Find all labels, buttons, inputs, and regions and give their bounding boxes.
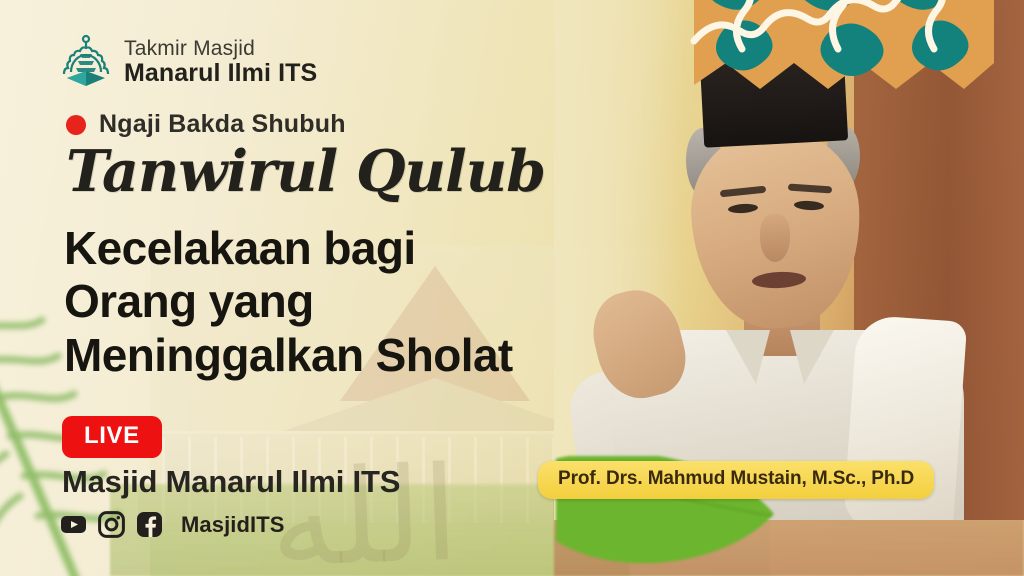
page-title: Kecelakaan bagi Orang yang Meninggalkan … [64, 222, 513, 382]
live-stream-poster: الله [0, 0, 1024, 576]
facebook-icon[interactable] [136, 511, 163, 538]
brand-text: Takmir Masjid Manarul Ilmi ITS [124, 38, 317, 86]
live-dot-icon [66, 115, 86, 135]
brand-lockup: Takmir Masjid Manarul Ilmi ITS [60, 34, 317, 90]
program-eyebrow: Ngaji Bakda Shubuh [66, 110, 346, 139]
headline-line-1: Kecelakaan bagi [64, 222, 513, 275]
headline-line-3: Meninggalkan Sholat [64, 329, 513, 382]
status-badge: LIVE [62, 416, 162, 458]
brand-line-2: Manarul Ilmi ITS [124, 60, 317, 86]
social-links: MasjidITS [60, 511, 285, 538]
youtube-icon[interactable] [60, 511, 87, 538]
program-eyebrow-label: Ngaji Bakda Shubuh [99, 110, 346, 139]
speaker-collar-left [726, 330, 770, 384]
headline-line-2: Orang yang [64, 275, 513, 328]
social-handle: MasjidITS [181, 512, 285, 538]
speaker-collar-right [790, 330, 834, 384]
mosque-book-logo-icon [60, 34, 112, 90]
brand-line-1: Takmir Masjid [124, 38, 317, 60]
instagram-icon[interactable] [98, 511, 125, 538]
series-title: Tanwirul Qulub [66, 142, 545, 202]
venue-label: Masjid Manarul Ilmi ITS [62, 464, 400, 500]
speaker-nose [760, 214, 790, 262]
speaker-name-badge: Prof. Drs. Mahmud Mustain, M.Sc., Ph.D [538, 461, 934, 499]
islamic-geometric-ornament-icon [674, 0, 1014, 108]
